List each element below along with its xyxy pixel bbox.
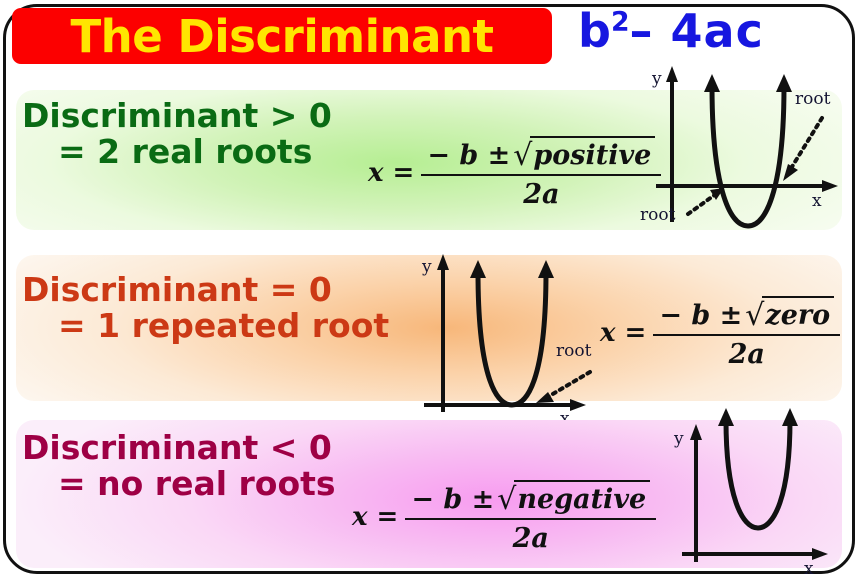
parabola-curve (712, 86, 784, 226)
page-title: The Discriminant (70, 14, 493, 59)
y-axis-label: y (421, 257, 432, 277)
formula-denominator-positive: 2a (523, 176, 559, 210)
radical-zero: √ zero (745, 296, 834, 331)
graph-one-repeated-root: y x root (408, 250, 623, 422)
quadratic-formula-positive: x = − b ± √ positive 2a (368, 136, 661, 210)
quadratic-formula-negative: x = − b ± √ negative 2a (352, 480, 656, 554)
formula-fraction-zero: − b ± √ zero 2a (653, 296, 840, 370)
parabola-curve (726, 420, 790, 528)
root-label-right: root (795, 89, 831, 109)
formula-denominator-zero: 2a (729, 336, 765, 370)
result-positive: = 2 real roots (22, 134, 332, 170)
x-axis-arrow (812, 548, 828, 560)
formula-fraction-negative: − b ± √ negative 2a (405, 480, 656, 554)
parabola-right-arrow (538, 260, 554, 278)
graph-no-real-roots: y x (668, 412, 858, 578)
result-negative: = no real roots (22, 466, 336, 502)
formula-lhs-negative: x = (352, 502, 398, 532)
formula-numerator-positive: − b ± √ positive (421, 136, 661, 174)
condition-zero: Discriminant = 0 (22, 272, 389, 308)
x-axis-arrow (570, 399, 586, 411)
expression-base: b (578, 4, 611, 58)
x-axis-arrow (822, 180, 838, 192)
formula-numerator-negative: − b ± √ negative (405, 480, 656, 518)
formula-lhs-positive: x = (368, 158, 414, 188)
y-axis-label: y (673, 429, 684, 449)
radicand-zero: zero (762, 296, 834, 331)
y-axis-arrow (690, 424, 702, 440)
parabola-curve (478, 272, 546, 405)
root-label: root (556, 341, 592, 361)
radicand-positive: positive (530, 136, 655, 171)
parabola-right-arrow (776, 74, 792, 92)
condition-negative: Discriminant < 0 (22, 430, 336, 466)
parabola-right-arrow (782, 408, 798, 426)
expression-rest: – 4ac (630, 4, 764, 58)
parabola-left-arrow (704, 74, 720, 92)
y-axis-label: y (651, 69, 662, 89)
root-label-left: root (640, 205, 676, 225)
parabola-left-arrow (718, 408, 734, 426)
section-label-positive: Discriminant > 0 = 2 real roots (22, 98, 332, 169)
condition-positive: Discriminant > 0 (22, 98, 332, 134)
section-label-zero: Discriminant = 0 = 1 repeated root (22, 272, 389, 343)
formula-numerator-zero: − b ± √ zero (653, 296, 840, 334)
formula-fraction-positive: − b ± √ positive 2a (421, 136, 661, 210)
x-axis-label: x (812, 191, 822, 211)
numerator-prefix-negative: − b ± (411, 484, 494, 515)
parabola-left-arrow (470, 260, 486, 278)
root-pointer-right (783, 118, 822, 181)
formula-denominator-negative: 2a (513, 520, 549, 554)
quadratic-formula-zero: x = − b ± √ zero 2a (600, 296, 840, 370)
title-banner: The Discriminant (12, 8, 552, 64)
expression-exponent: 2 (611, 7, 630, 38)
radical-negative: √ negative (497, 480, 650, 515)
graph-two-real-roots: y x root root (640, 62, 855, 234)
x-axis-label: x (804, 559, 814, 579)
discriminant-expression: b2– 4ac (578, 8, 764, 54)
radicand-negative: negative (514, 480, 650, 515)
discriminant-poster: The Discriminant b2– 4ac Discriminant > … (0, 0, 862, 580)
root-pointer-left (688, 188, 724, 214)
y-axis-arrow (437, 254, 449, 270)
root-pointer (536, 372, 590, 403)
result-zero: = 1 repeated root (22, 308, 389, 344)
y-axis-arrow (666, 66, 678, 82)
radical-positive: √ positive (513, 136, 655, 171)
section-label-negative: Discriminant < 0 = no real roots (22, 430, 336, 501)
numerator-prefix-positive: − b ± (427, 140, 510, 171)
numerator-prefix-zero: − b ± (659, 300, 742, 331)
